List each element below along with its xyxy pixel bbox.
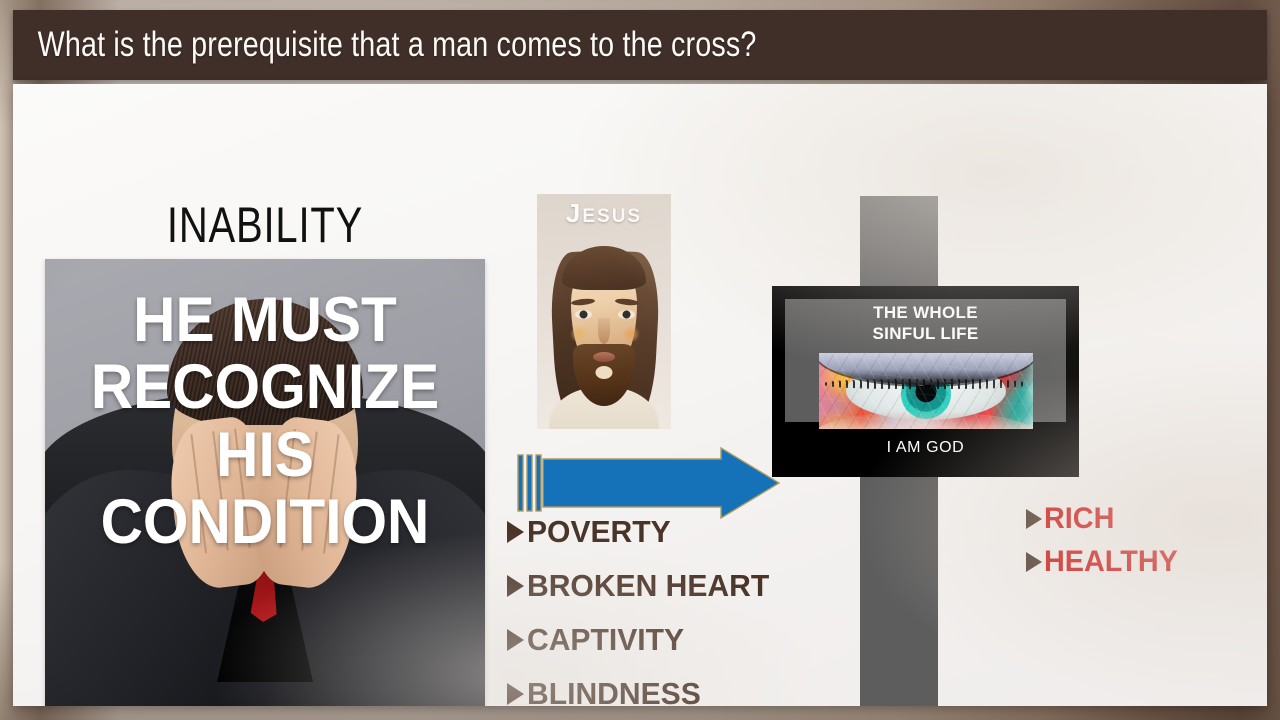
list-item-label: CAPTIVITY — [527, 622, 684, 658]
list-item[interactable]: POVERTY — [507, 511, 837, 553]
jesus-label-rest: ESUS — [582, 206, 642, 227]
triangle-bullet-icon — [1026, 552, 1042, 572]
jesus-eye-left — [575, 310, 592, 319]
jesus-mouth — [593, 352, 615, 362]
list-item[interactable]: HEALTHY — [1026, 545, 1206, 579]
list-item-label: BROKEN HEART — [527, 568, 769, 604]
triangle-bullet-icon — [507, 575, 524, 597]
list-item-label: HEALTHY — [1044, 545, 1178, 579]
page-title: What is the prerequisite that a man come… — [13, 25, 756, 65]
list-item-label: POVERTY — [527, 514, 671, 550]
triangle-bullet-icon — [1026, 509, 1042, 529]
list-item[interactable]: RICH — [1026, 502, 1206, 536]
photo-overlay-text: HE MUST RECOGNIZE HIS CONDITION — [60, 287, 469, 557]
jesus-label-first: J — [566, 198, 582, 228]
blessing-list: RICH HEALTHY — [1026, 502, 1206, 588]
sinful-life-panel: THE WHOLE SINFUL LIFE I AM GOD — [772, 286, 1079, 477]
triangle-bullet-icon — [507, 521, 524, 543]
list-item-label: BLINDNESS — [527, 676, 701, 706]
list-item-label: RICH — [1044, 502, 1114, 536]
sinful-life-inner: THE WHOLE SINFUL LIFE I AM GOD — [785, 299, 1066, 464]
jesus-cheek-right — [621, 326, 641, 342]
condition-list: POVERTY BROKEN HEART CAPTIVITY BLINDNESS… — [507, 511, 837, 706]
eye-polygon-facets — [819, 353, 1033, 429]
colorful-eye-image — [819, 353, 1033, 429]
slide-body: INABILITY HE MUST RECOGNIZE H — [13, 84, 1267, 706]
slide-stage: What is the prerequisite that a man come… — [0, 0, 1280, 720]
blue-right-arrow — [516, 447, 781, 519]
man-covering-face-photo: HE MUST RECOGNIZE HIS CONDITION — [45, 259, 485, 706]
jesus-label: JESUS — [537, 198, 671, 229]
list-item[interactable]: BROKEN HEART — [507, 565, 837, 607]
jesus-chin — [596, 366, 613, 379]
arrow-icon — [516, 447, 781, 519]
list-item[interactable]: CAPTIVITY — [507, 619, 837, 661]
header-bar: What is the prerequisite that a man come… — [13, 10, 1267, 80]
sinful-life-title: THE WHOLE SINFUL LIFE — [785, 303, 1066, 344]
inability-caption: INABILITY — [89, 196, 441, 254]
triangle-bullet-icon — [507, 629, 524, 651]
jesus-portrait: JESUS — [537, 194, 671, 429]
triangle-bullet-icon — [507, 683, 524, 705]
jesus-nose — [598, 318, 610, 344]
jesus-cheek-left — [569, 326, 589, 342]
list-item[interactable]: BLINDNESS — [507, 673, 837, 706]
jesus-eye-right — [618, 310, 635, 319]
sinful-life-title-line2: SINFUL LIFE — [873, 324, 979, 343]
i-am-god-caption: I AM GOD — [785, 439, 1066, 457]
sinful-life-title-line1: THE WHOLE — [873, 303, 978, 322]
